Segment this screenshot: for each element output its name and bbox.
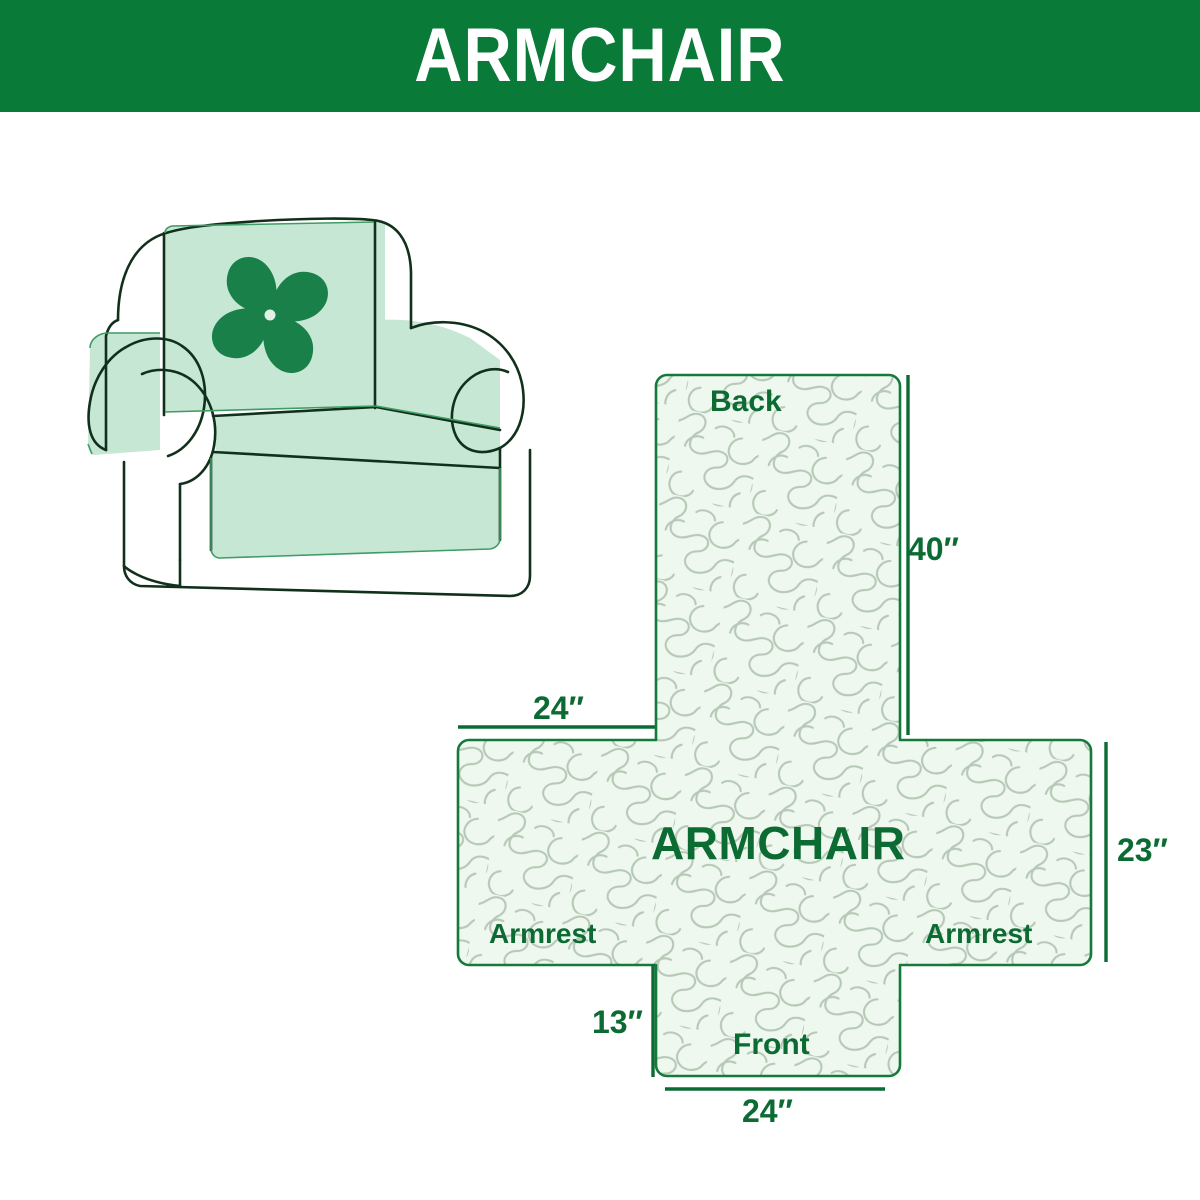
dimension-label-back-width: 24″	[533, 692, 584, 724]
dimension-label-front-width: 24″	[742, 1095, 793, 1127]
product-dimension-diagram: ARMCHAIR	[0, 0, 1200, 1200]
dimension-label-back-length: 40″	[908, 533, 959, 565]
header-banner: ARMCHAIR	[0, 0, 1200, 112]
panel-label-armrest-left: Armrest	[489, 920, 596, 948]
panel-label-back: Back	[710, 387, 782, 417]
panel-label-front: Front	[733, 1030, 810, 1060]
page-title: ARMCHAIR	[414, 18, 785, 94]
panel-label-armchair: ARMCHAIR	[651, 820, 905, 866]
dimension-label-front-drop: 13″	[592, 1006, 643, 1038]
panel-label-armrest-right: Armrest	[925, 920, 1032, 948]
dimension-label-body-depth: 23″	[1117, 834, 1168, 866]
pinwheel-fan-icon	[212, 257, 328, 373]
flat-pattern-diagram	[430, 350, 1200, 1140]
